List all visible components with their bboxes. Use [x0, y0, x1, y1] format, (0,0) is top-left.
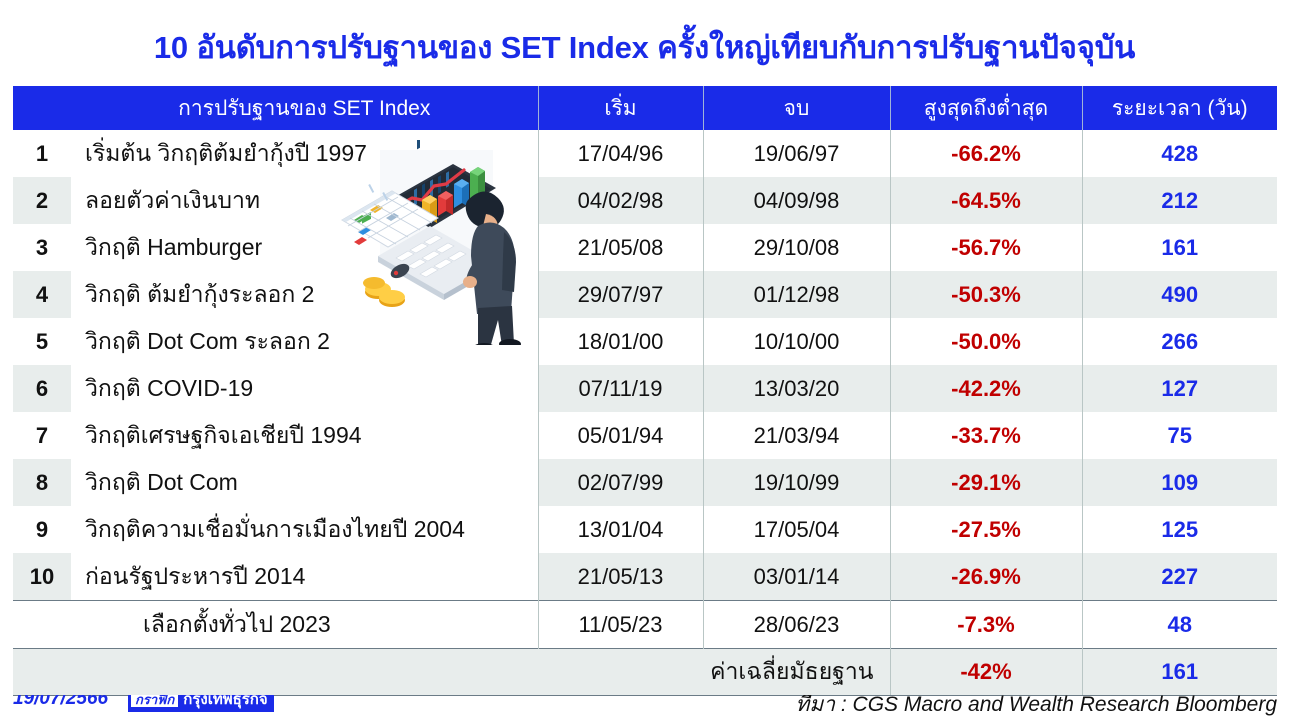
cell-name: วิกฤติ ต้มยำกุ้งระลอก 2 [71, 271, 538, 318]
cell-start: 21/05/13 [538, 553, 703, 601]
drawdown-table-container: การปรับฐานของ SET Index เริ่ม จบ สูงสุดถ… [13, 86, 1277, 696]
table-row: 5 วิกฤติ Dot Com ระลอก 2 18/01/00 10/10/… [13, 318, 1277, 365]
table-row: 2 ลอยตัวค่าเงินบาท 04/02/98 04/09/98 -64… [13, 177, 1277, 224]
cell-days: 109 [1082, 459, 1277, 506]
col-header-rank [13, 86, 71, 130]
cell-drawdown: -56.7% [890, 224, 1082, 271]
cell-end: 29/10/08 [703, 224, 890, 271]
table-row: 9 วิกฤติความเชื่อมั่นการเมืองไทยปี 2004 … [13, 506, 1277, 553]
cell-days: 428 [1082, 130, 1277, 177]
table-row: 1 เริ่มต้น วิกฤติต้มยำกุ้งปี 1997 17/04/… [13, 130, 1277, 177]
cell-end: 19/06/97 [703, 130, 890, 177]
header-row: การปรับฐานของ SET Index เริ่ม จบ สูงสุดถ… [13, 86, 1277, 130]
cell-start: 04/02/98 [538, 177, 703, 224]
cell-drawdown: -33.7% [890, 412, 1082, 459]
cell-days: 127 [1082, 365, 1277, 412]
cell-rank: 5 [13, 318, 71, 365]
cell-name: วิกฤติ COVID-19 [71, 365, 538, 412]
cell-days: 212 [1082, 177, 1277, 224]
cell-end: 03/01/14 [703, 553, 890, 601]
cell-name: ก่อนรัฐประหารปี 2014 [71, 553, 538, 601]
drawdown-table: การปรับฐานของ SET Index เริ่ม จบ สูงสุดถ… [13, 86, 1277, 696]
table-row: 3 วิกฤติ Hamburger 21/05/08 29/10/08 -56… [13, 224, 1277, 271]
cell-rank: 9 [13, 506, 71, 553]
col-header-days: ระยะเวลา (วัน) [1082, 86, 1277, 130]
cell-blank [538, 649, 703, 696]
cell-name: วิกฤติ Hamburger [71, 224, 538, 271]
cell-name: เริ่มต้น วิกฤติต้มยำกุ้งปี 1997 [71, 130, 538, 177]
cell-blank [13, 649, 71, 696]
cell-start: 07/11/19 [538, 365, 703, 412]
col-header-end: จบ [703, 86, 890, 130]
cell-rank: 6 [13, 365, 71, 412]
cell-end: 13/03/20 [703, 365, 890, 412]
cell-end: 01/12/98 [703, 271, 890, 318]
col-header-drawdown: สูงสุดถึงต่ำสุด [890, 86, 1082, 130]
cell-days: 48 [1082, 601, 1277, 649]
cell-name: วิกฤติเศรษฐกิจเอเชียปี 1994 [71, 412, 538, 459]
cell-days: 227 [1082, 553, 1277, 601]
cell-median-days: 161 [1082, 649, 1277, 696]
col-header-start: เริ่ม [538, 86, 703, 130]
col-header-name: การปรับฐานของ SET Index [71, 86, 538, 130]
cell-start: 05/01/94 [538, 412, 703, 459]
table-row: 8 วิกฤติ Dot Com 02/07/99 19/10/99 -29.1… [13, 459, 1277, 506]
cell-drawdown: -29.1% [890, 459, 1082, 506]
cell-end: 10/10/00 [703, 318, 890, 365]
cell-start: 11/05/23 [538, 601, 703, 649]
cell-drawdown: -26.9% [890, 553, 1082, 601]
cell-days: 75 [1082, 412, 1277, 459]
cell-name: ลอยตัวค่าเงินบาท [71, 177, 538, 224]
table-row: 7 วิกฤติเศรษฐกิจเอเชียปี 1994 05/01/94 2… [13, 412, 1277, 459]
cell-drawdown: -64.5% [890, 177, 1082, 224]
cell-median-label: ค่าเฉลี่ยมัธยฐาน [703, 649, 890, 696]
cell-rank: 10 [13, 553, 71, 601]
cell-rank: 3 [13, 224, 71, 271]
cell-blank [71, 649, 538, 696]
table-row-median: ค่าเฉลี่ยมัธยฐาน -42% 161 [13, 649, 1277, 696]
cell-start: 18/01/00 [538, 318, 703, 365]
cell-drawdown: -7.3% [890, 601, 1082, 649]
cell-drawdown: -66.2% [890, 130, 1082, 177]
table-header: การปรับฐานของ SET Index เริ่ม จบ สูงสุดถ… [13, 86, 1277, 130]
table-row: 6 วิกฤติ COVID-19 07/11/19 13/03/20 -42.… [13, 365, 1277, 412]
cell-end: 28/06/23 [703, 601, 890, 649]
table-body: 1 เริ่มต้น วิกฤติต้มยำกุ้งปี 1997 17/04/… [13, 130, 1277, 696]
cell-end: 21/03/94 [703, 412, 890, 459]
cell-drawdown: -50.3% [890, 271, 1082, 318]
cell-drawdown: -42.2% [890, 365, 1082, 412]
cell-name: วิกฤติ Dot Com ระลอก 2 [71, 318, 538, 365]
table-row-current: เลือกตั้งทั่วไป 2023 11/05/23 28/06/23 -… [13, 601, 1277, 649]
cell-days: 161 [1082, 224, 1277, 271]
infographic-page: 10 อันดับการปรับฐานของ SET Index ครั้งให… [0, 0, 1289, 719]
table-row: 10 ก่อนรัฐประหารปี 2014 21/05/13 03/01/1… [13, 553, 1277, 601]
cell-start: 13/01/04 [538, 506, 703, 553]
cell-rank: 8 [13, 459, 71, 506]
cell-end: 04/09/98 [703, 177, 890, 224]
table-row: 4 วิกฤติ ต้มยำกุ้งระลอก 2 29/07/97 01/12… [13, 271, 1277, 318]
cell-days: 490 [1082, 271, 1277, 318]
page-title: 10 อันดับการปรับฐานของ SET Index ครั้งให… [0, 22, 1289, 72]
cell-rank: 7 [13, 412, 71, 459]
cell-drawdown: -50.0% [890, 318, 1082, 365]
cell-name: วิกฤติ Dot Com [71, 459, 538, 506]
cell-days: 125 [1082, 506, 1277, 553]
cell-rank [13, 601, 71, 649]
cell-name: วิกฤติความเชื่อมั่นการเมืองไทยปี 2004 [71, 506, 538, 553]
cell-median-drawdown: -42% [890, 649, 1082, 696]
cell-drawdown: -27.5% [890, 506, 1082, 553]
cell-start: 29/07/97 [538, 271, 703, 318]
cell-days: 266 [1082, 318, 1277, 365]
cell-end: 19/10/99 [703, 459, 890, 506]
cell-end: 17/05/04 [703, 506, 890, 553]
cell-rank: 2 [13, 177, 71, 224]
cell-start: 17/04/96 [538, 130, 703, 177]
cell-rank: 1 [13, 130, 71, 177]
cell-start: 02/07/99 [538, 459, 703, 506]
cell-name: เลือกตั้งทั่วไป 2023 [71, 601, 538, 649]
cell-start: 21/05/08 [538, 224, 703, 271]
cell-rank: 4 [13, 271, 71, 318]
